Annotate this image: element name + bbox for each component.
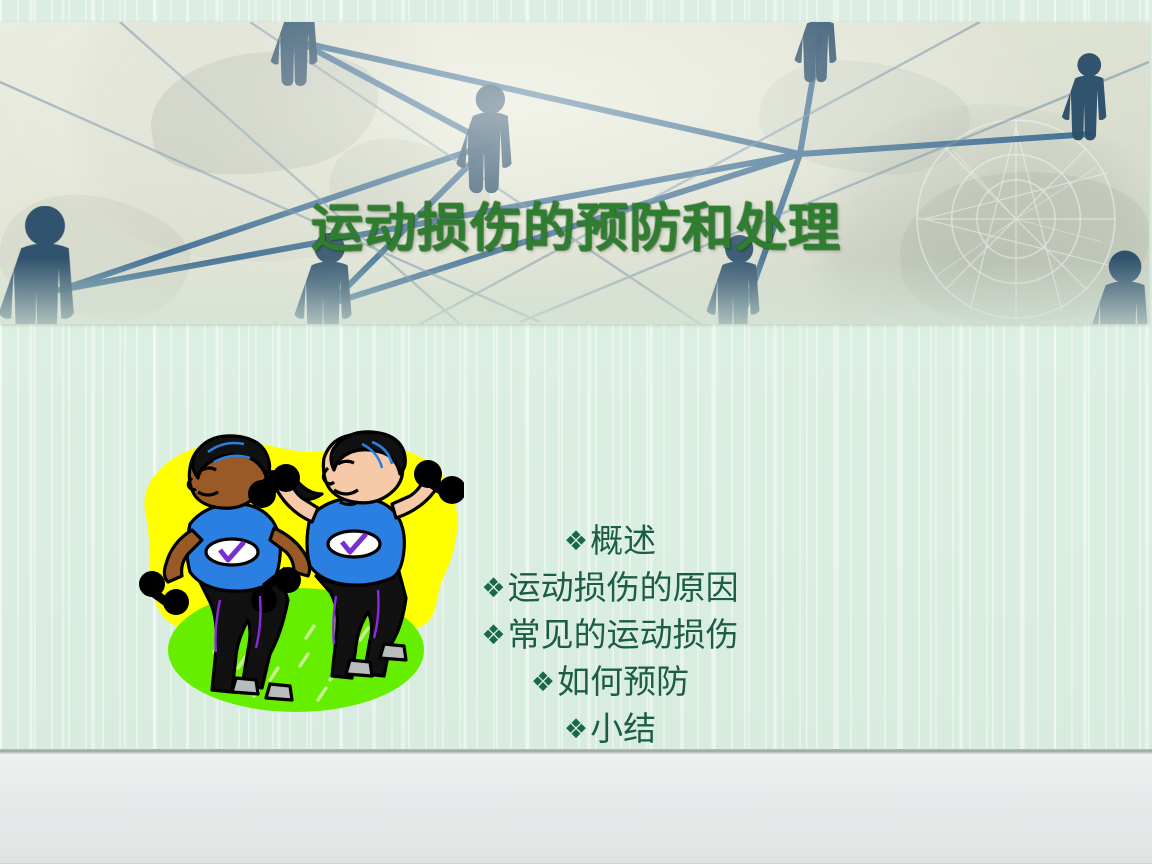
list-item-label: 小结 <box>590 709 656 748</box>
list-item: ❖如何预防 <box>400 659 820 706</box>
header-banner-image <box>0 22 1149 324</box>
bullet-diamond-icon: ❖ <box>481 573 505 604</box>
list-item: ❖小结 <box>400 706 820 752</box>
list-item: ❖常见的运动损伤 <box>400 612 820 659</box>
list-item: ❖概述 <box>400 518 820 565</box>
slide-title: 运动损伤的预防和处理 <box>0 186 1152 261</box>
list-item-label: 如何预防 <box>557 662 689 701</box>
bullet-diamond-icon: ❖ <box>481 620 505 651</box>
bullet-diamond-icon: ❖ <box>564 526 588 557</box>
viewer-footer-area <box>0 753 1152 864</box>
list-item-label: 运动损伤的原因 <box>508 568 739 607</box>
agenda-list: ❖概述 ❖运动损伤的原因 ❖常见的运动损伤 ❖如何预防 ❖小结 <box>400 518 820 752</box>
list-item-label: 常见的运动损伤 <box>508 615 739 654</box>
bullet-diamond-icon: ❖ <box>564 714 588 745</box>
bullet-diamond-icon: ❖ <box>531 667 555 698</box>
list-item-label: 概述 <box>590 521 656 560</box>
people-network-graphic <box>0 22 1149 324</box>
slide-viewer: 运动损伤的预防和处理 <box>0 0 1152 864</box>
presentation-slide: 运动损伤的预防和处理 <box>0 0 1152 752</box>
list-item: ❖运动损伤的原因 <box>400 565 820 612</box>
